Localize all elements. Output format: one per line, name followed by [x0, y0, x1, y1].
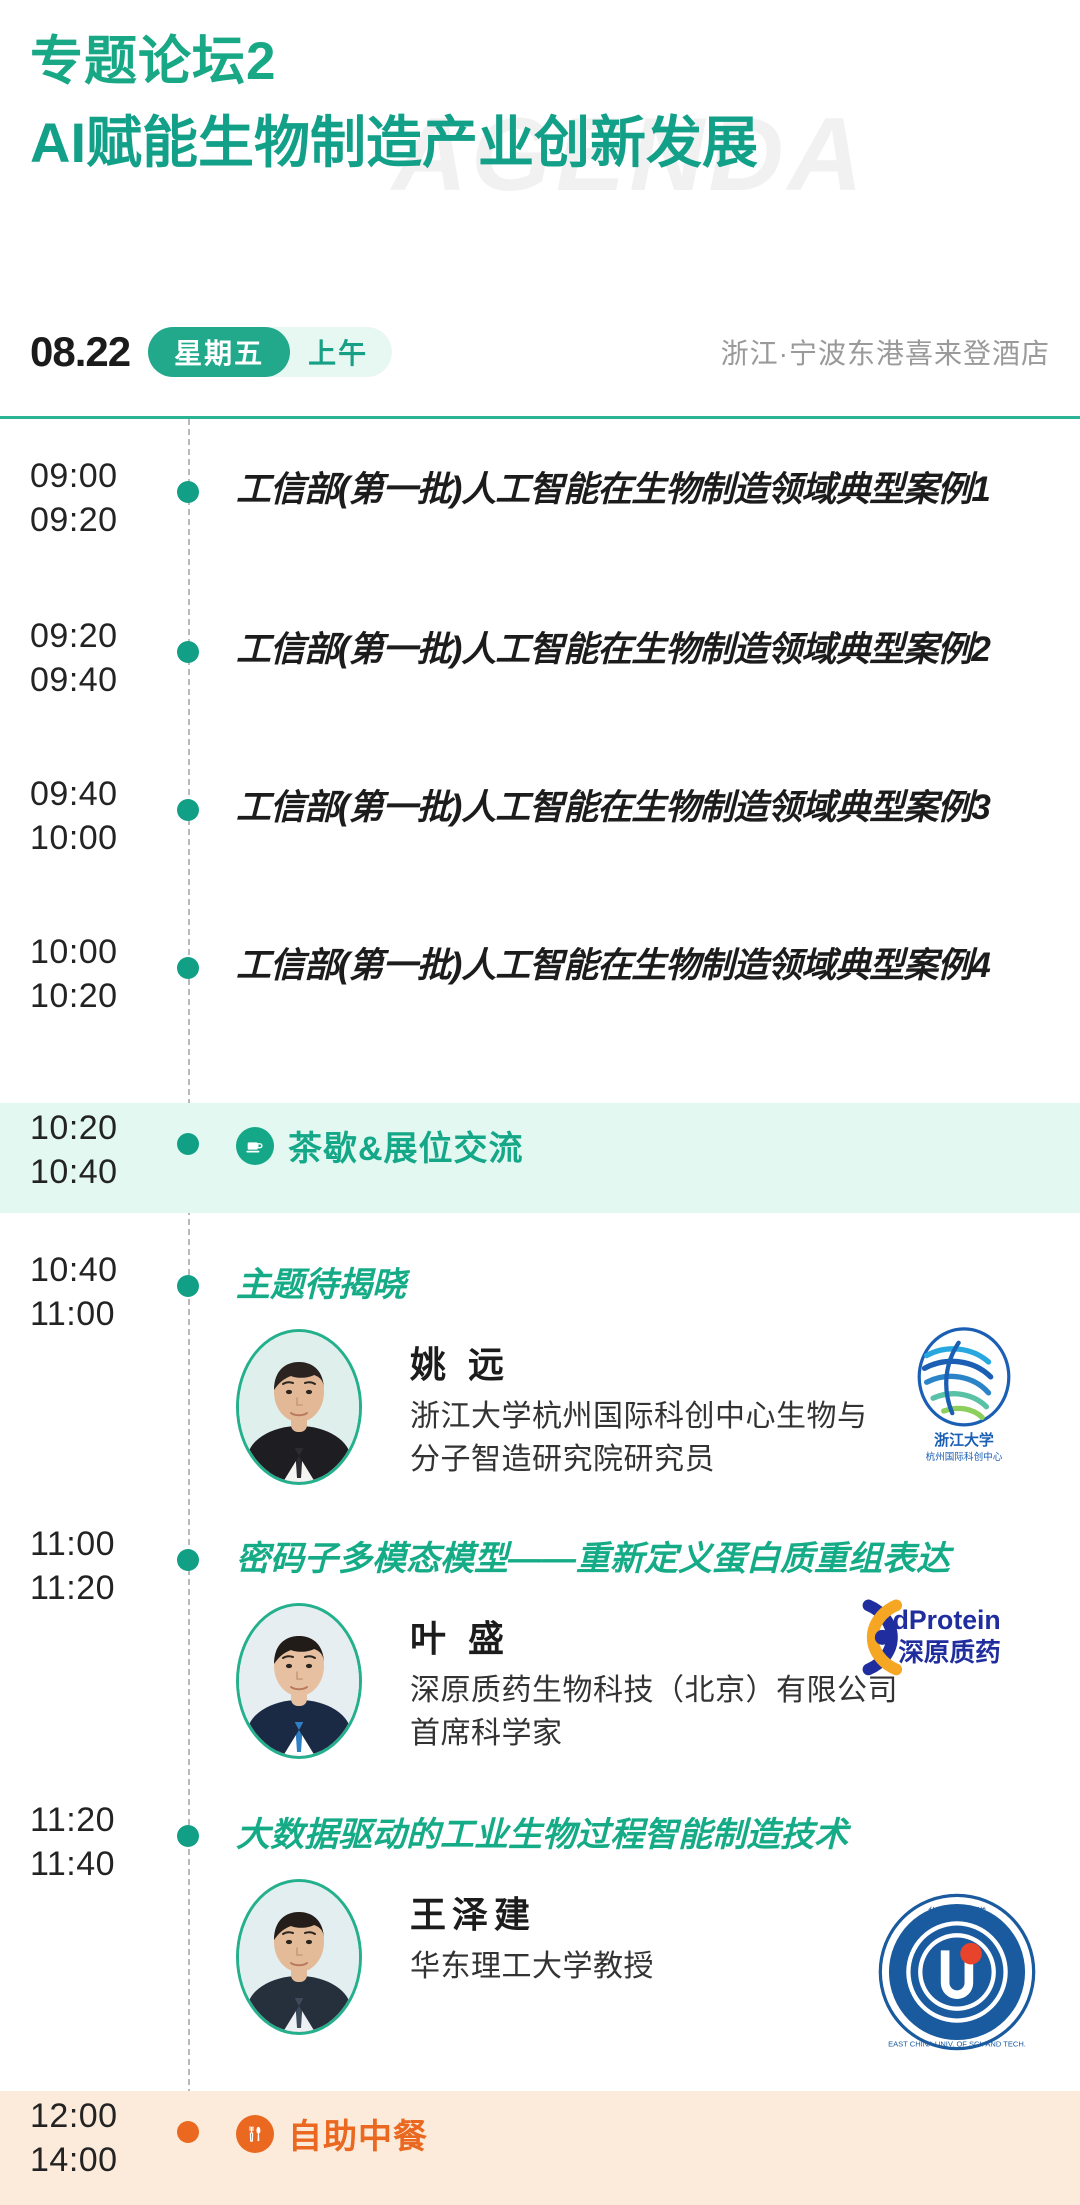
- session-start-time: 09:00: [30, 455, 188, 499]
- speaker-avatar: [236, 1879, 362, 2035]
- agenda-timeline: 09:0009:20工信部(第一批)人工智能在生物制造领域典型案例109:200…: [0, 419, 1080, 2205]
- break-row-content: 自助中餐: [236, 2109, 1056, 2158]
- session-start-time: 12:00: [30, 2095, 188, 2139]
- speaker-avatar: [236, 1603, 362, 1759]
- session-title: 主题待揭晓: [236, 1263, 1056, 1307]
- speaker-avatar: [236, 1329, 362, 1485]
- speaker-affiliation: 华东理工大学教授: [410, 1946, 654, 1989]
- svg-text:华东理工大学: 华东理工大学: [928, 1905, 987, 1918]
- session-content: 工信部(第一批)人工智能在生物制造领域典型案例3: [188, 769, 1080, 927]
- venue-label: 浙江·宁波东港喜来登酒店: [721, 332, 1050, 372]
- organization-logo-ecust: 华东理工大学 EAST CHINA UNIV. OF SCI. AND TECH…: [876, 1891, 1038, 2053]
- event-date: 08.22: [30, 331, 130, 373]
- session-content: 茶歇&展位交流: [188, 1103, 1080, 1213]
- session-end-time: 10:20: [30, 975, 188, 1019]
- break-label: 茶歇&展位交流: [288, 1121, 524, 1170]
- session-time: 10:4011:00: [0, 1245, 188, 1519]
- date-pill-group: 星期五 上午: [148, 327, 392, 377]
- agenda-session-row[interactable]: 09:0009:20工信部(第一批)人工智能在生物制造领域典型案例1: [0, 451, 1080, 611]
- break-row-content: 茶歇&展位交流: [236, 1121, 1056, 1170]
- session-time: 09:4010:00: [0, 769, 188, 927]
- break-label: 自助中餐: [288, 2109, 428, 2158]
- agenda-session-row[interactable]: 11:0011:20密码子多模态模型——重新定义蛋白质重组表达 叶 盛深原质药生…: [0, 1519, 1080, 1795]
- session-time: 11:0011:20: [0, 1519, 188, 1795]
- organization-logo-zhejiang-university-hic: 浙江大学 杭州国际科创中心: [884, 1315, 1044, 1475]
- session-end-time: 10:00: [30, 817, 188, 861]
- session-start-time: 11:00: [30, 1523, 188, 1567]
- forum-kicker: 专题论坛2: [30, 34, 1080, 90]
- session-start-time: 09:40: [30, 773, 188, 817]
- svg-text:dProtein: dProtein: [893, 1605, 1001, 1635]
- svg-text:浙江大学: 浙江大学: [934, 1431, 994, 1449]
- header-divider: [0, 416, 1080, 419]
- session-content: 主题待揭晓 姚 远浙江大学杭州国际科创中心生物与 分子智造研究院研究员 浙江大学: [188, 1245, 1080, 1519]
- speaker-name: 王泽建: [410, 1893, 654, 1936]
- session-end-time: 09:40: [30, 659, 188, 703]
- svg-text:EAST CHINA UNIV. OF SCI. AND T: EAST CHINA UNIV. OF SCI. AND TECH.: [888, 2040, 1026, 2049]
- session-time: 12:0014:00: [0, 2091, 188, 2205]
- date-bar: 08.22 星期五 上午 浙江·宁波东港喜来登酒店: [30, 322, 1050, 382]
- speaker-info: 姚 远浙江大学杭州国际科创中心生物与 分子智造研究院研究员: [410, 1329, 868, 1481]
- session-content: 自助中餐: [188, 2091, 1080, 2205]
- weekday-badge: 星期五: [148, 327, 290, 377]
- session-start-time: 10:40: [30, 1249, 188, 1293]
- agenda-break-row[interactable]: 10:2010:40 茶歇&展位交流: [0, 1103, 1080, 1213]
- session-time: 10:2010:40: [0, 1103, 188, 1213]
- svg-text:杭州国际科创中心: 杭州国际科创中心: [926, 1451, 1003, 1463]
- speaker-name: 姚 远: [410, 1343, 868, 1386]
- session-time: 09:0009:20: [0, 451, 188, 611]
- speaker-block: 王泽建华东理工大学教授 华东理工大学 EAST CHINA UNIV. OF S…: [236, 1879, 1056, 2035]
- session-end-time: 11:00: [30, 1293, 188, 1337]
- session-content: 大数据驱动的工业生物过程智能制造技术 王泽建华东理工大学教授 华东理工大学 EA…: [188, 1795, 1080, 2069]
- agenda-session-row[interactable]: 10:4011:00主题待揭晓 姚 远浙江大学杭州国际科创中心生物与 分子智造研…: [0, 1245, 1080, 1519]
- agenda-session-row[interactable]: 11:2011:40大数据驱动的工业生物过程智能制造技术 王泽建华东理工大学教授…: [0, 1795, 1080, 2069]
- agenda-break-row[interactable]: 12:0014:00 自助中餐: [0, 2091, 1080, 2205]
- speaker-affiliation: 浙江大学杭州国际科创中心生物与 分子智造研究院研究员: [410, 1396, 868, 1481]
- agenda-session-row[interactable]: 09:4010:00工信部(第一批)人工智能在生物制造领域典型案例3: [0, 769, 1080, 927]
- session-start-time: 11:20: [30, 1799, 188, 1843]
- session-end-time: 09:20: [30, 499, 188, 543]
- speaker-info: 王泽建华东理工大学教授: [410, 1879, 654, 1989]
- agenda-poster: AGENDA 专题论坛2 AI赋能生物制造产业创新发展 08.22 星期五 上午…: [0, 0, 1080, 2205]
- session-title: 工信部(第一批)人工智能在生物制造领域典型案例4: [236, 943, 1056, 989]
- session-end-time: 11:40: [30, 1843, 188, 1887]
- svg-text:深原质药: 深原质药: [898, 1638, 1000, 1667]
- session-start-time: 10:00: [30, 931, 188, 975]
- session-content: 工信部(第一批)人工智能在生物制造领域典型案例4: [188, 927, 1080, 1085]
- session-end-time: 11:20: [30, 1567, 188, 1611]
- poster-header: AGENDA 专题论坛2 AI赋能生物制造产业创新发展 08.22 星期五 上午…: [0, 0, 1080, 418]
- agenda-session-row[interactable]: 10:0010:20工信部(第一批)人工智能在生物制造领域典型案例4: [0, 927, 1080, 1085]
- session-content: 密码子多模态模型——重新定义蛋白质重组表达 叶 盛深原质药生物科技（北京）有限公…: [188, 1519, 1080, 1795]
- session-content: 工信部(第一批)人工智能在生物制造领域典型案例2: [188, 611, 1080, 769]
- cutlery-icon: [236, 2115, 274, 2153]
- session-end-time: 14:00: [30, 2139, 188, 2183]
- session-start-time: 10:20: [30, 1107, 188, 1151]
- agenda-session-row[interactable]: 09:2009:40工信部(第一批)人工智能在生物制造领域典型案例2: [0, 611, 1080, 769]
- session-end-time: 10:40: [30, 1151, 188, 1195]
- page-title: AI赋能生物制造产业创新发展: [30, 112, 1080, 174]
- session-content: 工信部(第一批)人工智能在生物制造领域典型案例1: [188, 451, 1080, 611]
- session-time: 11:2011:40: [0, 1795, 188, 2069]
- session-start-time: 09:20: [30, 615, 188, 659]
- speaker-block: 姚 远浙江大学杭州国际科创中心生物与 分子智造研究院研究员 浙江大学 杭州国际科…: [236, 1329, 1056, 1485]
- session-title: 工信部(第一批)人工智能在生物制造领域典型案例2: [236, 627, 1056, 673]
- organization-logo-dprotein: dProtein 深原质药: [810, 1567, 1040, 1727]
- ampm-badge: 上午: [290, 332, 372, 372]
- session-title: 工信部(第一批)人工智能在生物制造领域典型案例1: [236, 467, 1056, 513]
- session-time: 10:0010:20: [0, 927, 188, 1085]
- session-time: 09:2009:40: [0, 611, 188, 769]
- coffee-cup-icon: [236, 1127, 274, 1165]
- speaker-block: 叶 盛深原质药生物科技（北京）有限公司 首席科学家 dProtein 深原质药: [236, 1603, 1056, 1759]
- session-title: 大数据驱动的工业生物过程智能制造技术: [236, 1813, 1056, 1857]
- session-title: 工信部(第一批)人工智能在生物制造领域典型案例3: [236, 785, 1056, 831]
